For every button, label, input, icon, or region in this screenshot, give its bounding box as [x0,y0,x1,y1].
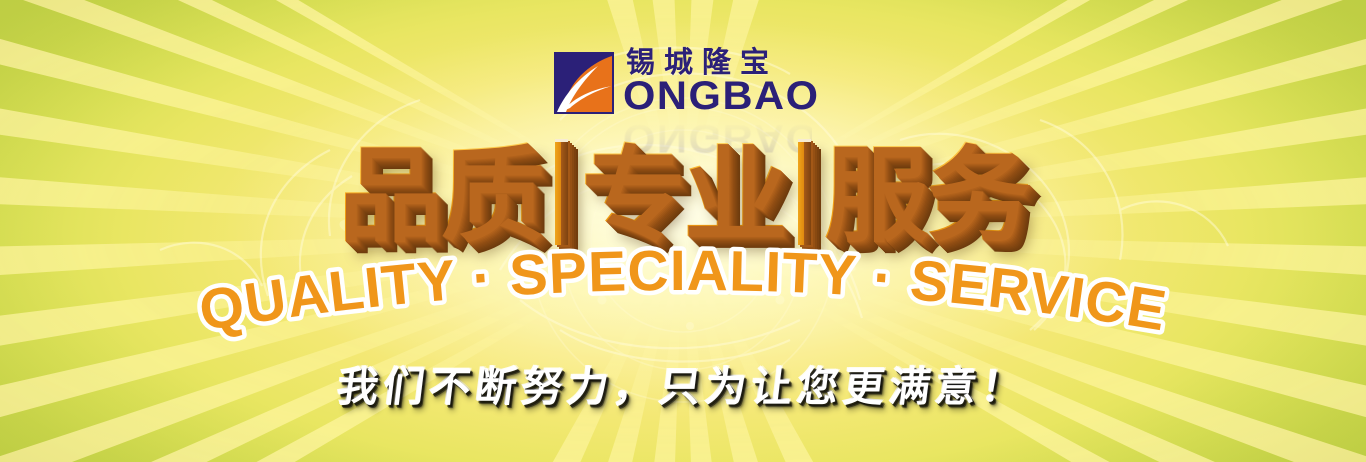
edge-vignette [0,0,1366,462]
promotional-banner: ONGBAO 锡城隆宝 ONGBAO 品质 专业 服务 [0,0,1366,462]
